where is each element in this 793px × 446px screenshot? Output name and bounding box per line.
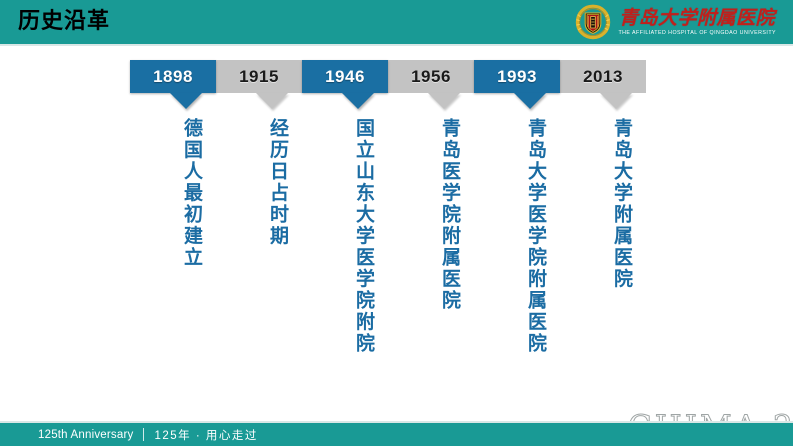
hospital-logo: 青岛大学附属医院 THE AFFILIATED HOSPITAL OF QING… bbox=[574, 2, 775, 42]
pointer-triangle-icon bbox=[342, 93, 374, 109]
year-label: 1956 bbox=[388, 60, 474, 93]
logo-chinese-name: 青岛大学附属医院 bbox=[619, 7, 775, 29]
timeline-event-label-1956: 青岛医学院附属医院 bbox=[438, 118, 460, 312]
year-label: 2013 bbox=[560, 60, 646, 93]
timeline-event-label-1898: 德国人最初建立 bbox=[180, 118, 202, 269]
timeline-year-cell-1956[interactable]: 1956 bbox=[388, 60, 474, 93]
timeline-year-cell-2013[interactable]: 2013 bbox=[560, 60, 646, 93]
footer-anniversary-en: 125th Anniversary bbox=[38, 429, 133, 441]
footer-divider bbox=[143, 428, 144, 441]
year-label: 1946 bbox=[302, 60, 388, 93]
header-underline bbox=[0, 44, 793, 46]
timeline-event-label-2013: 青岛大学附属医院 bbox=[610, 118, 632, 290]
footer-content: 125th Anniversary 125年 · 用心走过 bbox=[38, 423, 258, 446]
timeline-year-cell-1946[interactable]: 1946 bbox=[302, 60, 388, 93]
pointer-triangle-icon bbox=[428, 93, 460, 109]
page-title: 历史沿革 bbox=[18, 8, 110, 34]
timeline-year-cell-1915[interactable]: 1915 bbox=[216, 60, 302, 93]
timeline-event-label-1915: 经历日占时期 bbox=[266, 118, 288, 247]
pointer-triangle-icon bbox=[514, 93, 546, 109]
page-header: 历史沿革 bbox=[0, 0, 793, 44]
timeline-event-label-1946: 国立山东大学医学院附院 bbox=[352, 118, 374, 355]
page-footer: 125th Anniversary 125年 · 用心走过 bbox=[0, 423, 793, 446]
shield-laurel-icon bbox=[574, 3, 612, 41]
logo-english-name: THE AFFILIATED HOSPITAL OF QINGDAO UNIVE… bbox=[618, 29, 776, 37]
timeline-year-cell-1993[interactable]: 1993 bbox=[474, 60, 560, 93]
logo-text: 青岛大学附属医院 THE AFFILIATED HOSPITAL OF QING… bbox=[619, 7, 775, 37]
year-label: 1993 bbox=[474, 60, 560, 93]
timeline-event-label-1993: 青岛大学医学院附属医院 bbox=[524, 118, 546, 355]
pointer-triangle-icon bbox=[256, 93, 288, 109]
year-label: 1915 bbox=[216, 60, 302, 93]
timeline-year-cell-1898[interactable]: 1898 bbox=[130, 60, 216, 93]
footer-anniversary-cn: 125年 · 用心走过 bbox=[154, 427, 257, 443]
pointer-triangle-icon bbox=[600, 93, 632, 109]
pointer-triangle-icon bbox=[170, 93, 202, 109]
timeline-year-strip: 1898 1915 1946 1956 1993 2013 bbox=[130, 60, 646, 93]
year-label: 1898 bbox=[130, 60, 216, 93]
